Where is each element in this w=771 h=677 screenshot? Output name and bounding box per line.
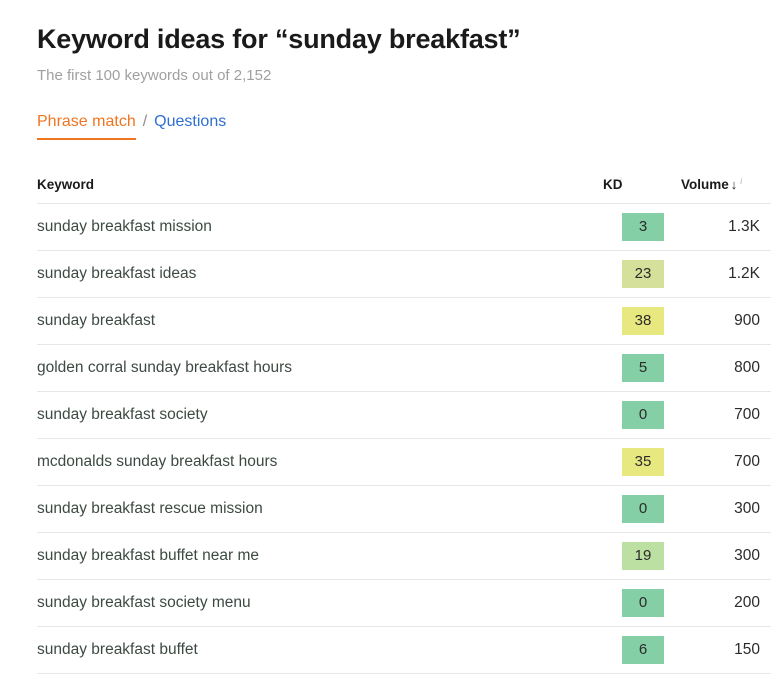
volume-cell: 700: [681, 392, 771, 439]
column-header-keyword[interactable]: Keyword: [37, 165, 597, 204]
column-header-kd[interactable]: KDi: [597, 165, 681, 204]
table-row[interactable]: sunday breakfast buffet near me19300: [37, 533, 771, 580]
volume-cell: 1.3K: [681, 204, 771, 251]
kd-cell: 0: [597, 580, 681, 627]
keyword-cell[interactable]: sunday breakfast rescue mission: [37, 486, 597, 533]
match-type-tabs: Phrase match / Questions: [37, 86, 771, 140]
table-header: Keyword KDi Volume↓i: [37, 165, 771, 204]
volume-cell: 300: [681, 533, 771, 580]
keyword-cell[interactable]: sunday breakfast: [37, 298, 597, 345]
kd-cell: 35: [597, 439, 681, 486]
kd-badge: 19: [622, 542, 664, 570]
kd-cell: 0: [597, 486, 681, 533]
table-row[interactable]: golden corral sunday breakfast hours5800: [37, 345, 771, 392]
volume-cell: 1.2K: [681, 251, 771, 298]
kd-cell: 6: [597, 627, 681, 674]
keyword-cell[interactable]: golden corral sunday breakfast hours: [37, 345, 597, 392]
volume-cell: 150: [681, 627, 771, 674]
page-title: Keyword ideas for “sunday breakfast”: [37, 0, 771, 56]
kd-cell: 23: [597, 251, 681, 298]
info-icon[interactable]: i: [737, 176, 742, 186]
table-row[interactable]: sunday breakfast society0700: [37, 392, 771, 439]
table-row[interactable]: sunday breakfast society menu0200: [37, 580, 771, 627]
kd-badge: 6: [622, 636, 664, 664]
volume-cell: 900: [681, 298, 771, 345]
kd-badge: 38: [622, 307, 664, 335]
table-header-row: Keyword KDi Volume↓i: [37, 165, 771, 204]
keyword-cell[interactable]: sunday breakfast buffet: [37, 627, 597, 674]
column-header-volume-label: Volume: [681, 177, 729, 192]
table-row[interactable]: sunday breakfast38900: [37, 298, 771, 345]
column-header-volume[interactable]: Volume↓i: [681, 165, 771, 204]
column-header-kd-label: KD: [603, 177, 623, 192]
kd-cell: 19: [597, 533, 681, 580]
volume-cell: 800: [681, 345, 771, 392]
kd-badge: 35: [622, 448, 664, 476]
tab-phrase-match[interactable]: Phrase match: [37, 112, 136, 140]
table-row[interactable]: sunday breakfast rescue mission0300: [37, 486, 771, 533]
volume-cell: 700: [681, 439, 771, 486]
volume-cell: 300: [681, 486, 771, 533]
kd-badge: 0: [622, 589, 664, 617]
kd-badge: 23: [622, 260, 664, 288]
kd-cell: 3: [597, 204, 681, 251]
keyword-cell[interactable]: mcdonalds sunday breakfast hours: [37, 439, 597, 486]
tab-separator: /: [136, 112, 154, 132]
table-row[interactable]: sunday breakfast buffet6150: [37, 627, 771, 674]
tab-questions[interactable]: Questions: [154, 112, 226, 132]
kd-cell: 0: [597, 392, 681, 439]
keyword-ideas-table: Keyword KDi Volume↓i sunday breakfast mi…: [37, 165, 771, 674]
kd-cell: 5: [597, 345, 681, 392]
kd-badge: 3: [622, 213, 664, 241]
sort-descending-arrow-icon[interactable]: ↓: [729, 177, 738, 192]
keyword-ideas-panel: Keyword ideas for “sunday breakfast” The…: [0, 0, 771, 677]
kd-cell: 38: [597, 298, 681, 345]
table-row[interactable]: mcdonalds sunday breakfast hours35700: [37, 439, 771, 486]
page-subtitle: The first 100 keywords out of 2,152: [37, 56, 771, 86]
volume-cell: 200: [681, 580, 771, 627]
keyword-cell[interactable]: sunday breakfast society: [37, 392, 597, 439]
kd-badge: 0: [622, 495, 664, 523]
keyword-cell[interactable]: sunday breakfast buffet near me: [37, 533, 597, 580]
keyword-cell[interactable]: sunday breakfast ideas: [37, 251, 597, 298]
table-row[interactable]: sunday breakfast ideas231.2K: [37, 251, 771, 298]
table-row[interactable]: sunday breakfast mission31.3K: [37, 204, 771, 251]
kd-badge: 0: [622, 401, 664, 429]
table-body: sunday breakfast mission31.3Ksunday brea…: [37, 204, 771, 674]
keyword-cell[interactable]: sunday breakfast mission: [37, 204, 597, 251]
kd-badge: 5: [622, 354, 664, 382]
column-header-keyword-label: Keyword: [37, 177, 94, 192]
keyword-cell[interactable]: sunday breakfast society menu: [37, 580, 597, 627]
